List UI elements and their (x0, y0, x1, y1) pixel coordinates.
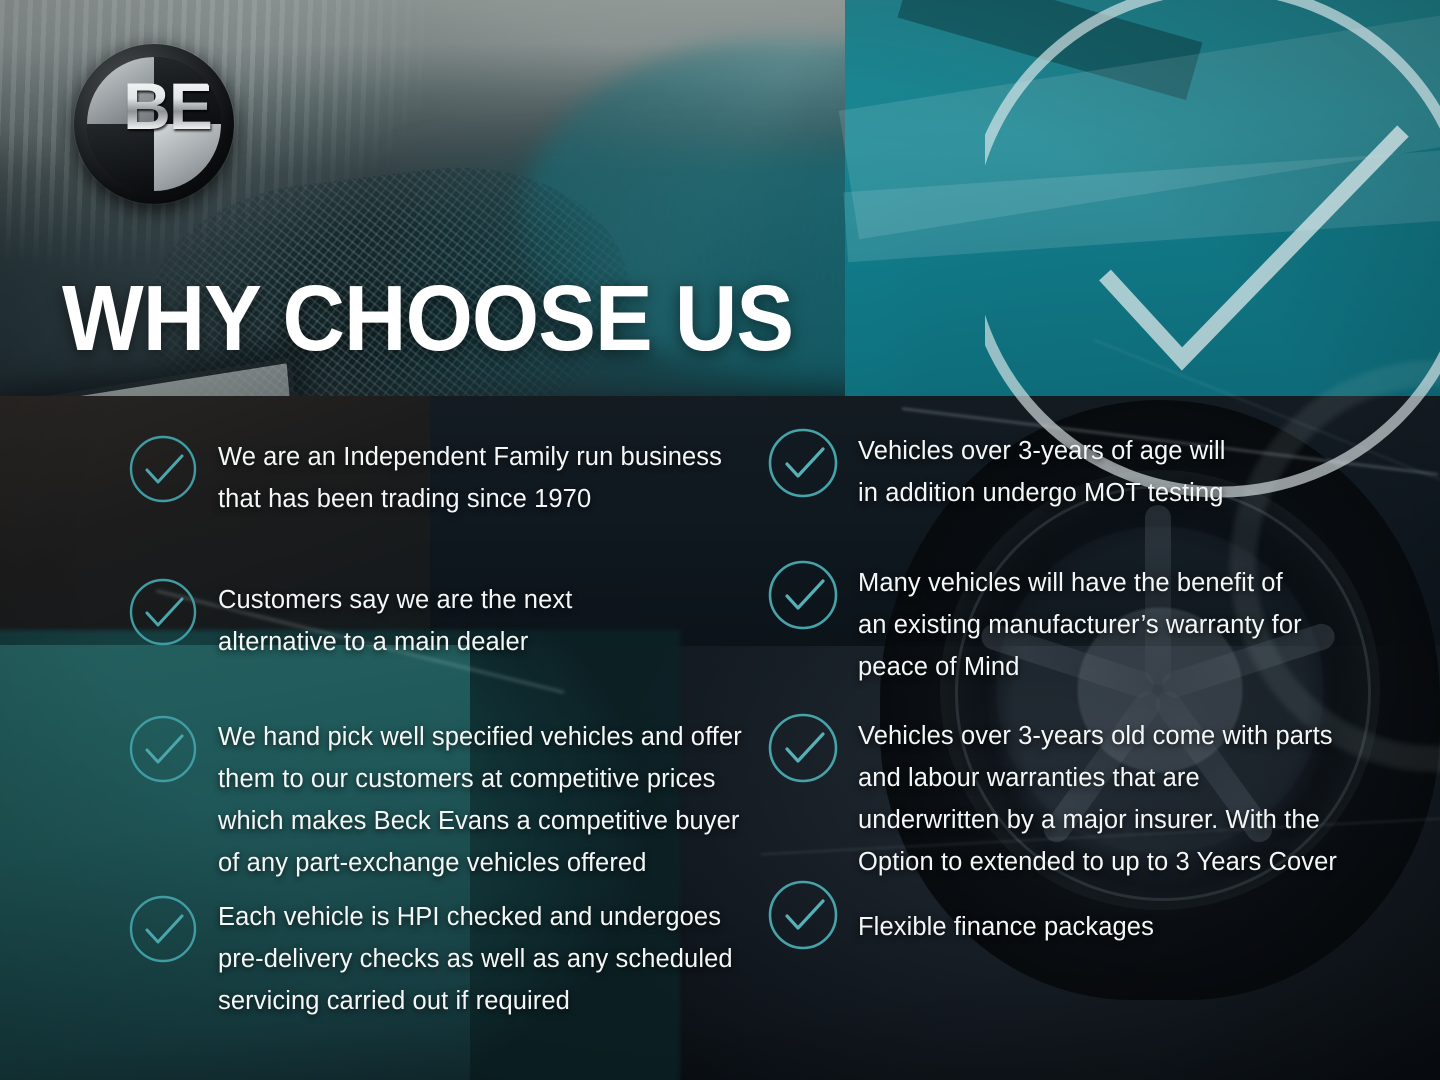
check-circle-icon (128, 714, 198, 784)
check-circle-icon (768, 880, 838, 950)
check-circle-icon (768, 713, 838, 783)
check-circle-icon (128, 894, 198, 964)
slide-canvas: BE WHY CHOOSE US We are an Independent F… (0, 0, 1440, 1080)
list-item-label: Vehicles over 3-years of age will in add… (858, 428, 1226, 514)
list-item-label: Many vehicles will have the benefit of a… (858, 560, 1302, 688)
list-item: Vehicles over 3-years old come with part… (768, 713, 1337, 883)
list-item-label: Vehicles over 3-years old come with part… (858, 713, 1337, 883)
list-item-label: Customers say we are the next alternativ… (218, 577, 572, 663)
list-item: Many vehicles will have the benefit of a… (768, 560, 1302, 688)
page-title: WHY CHOOSE US (62, 272, 793, 365)
list-item-label: We are an Independent Family run busines… (218, 434, 722, 520)
check-circle-icon (768, 560, 838, 630)
list-item: Customers say we are the next alternativ… (128, 577, 572, 663)
check-circle-icon (128, 577, 198, 647)
beck-evans-logo[interactable]: BE (74, 44, 234, 204)
list-item: Flexible finance packages (768, 880, 1154, 950)
list-item-label: Each vehicle is HPI checked and undergoe… (218, 894, 733, 1022)
list-item-label: We hand pick well specified vehicles and… (218, 714, 742, 884)
logo-wordmark: BE (87, 73, 221, 139)
check-circle-icon (128, 434, 198, 504)
list-item: We are an Independent Family run busines… (128, 434, 722, 520)
list-item: Each vehicle is HPI checked and undergoe… (128, 894, 733, 1022)
list-item-label: Flexible finance packages (858, 880, 1154, 948)
list-item: We hand pick well specified vehicles and… (128, 714, 742, 884)
list-item: Vehicles over 3-years of age will in add… (768, 428, 1226, 514)
logo-roundel: BE (87, 57, 221, 191)
check-circle-icon (768, 428, 838, 498)
